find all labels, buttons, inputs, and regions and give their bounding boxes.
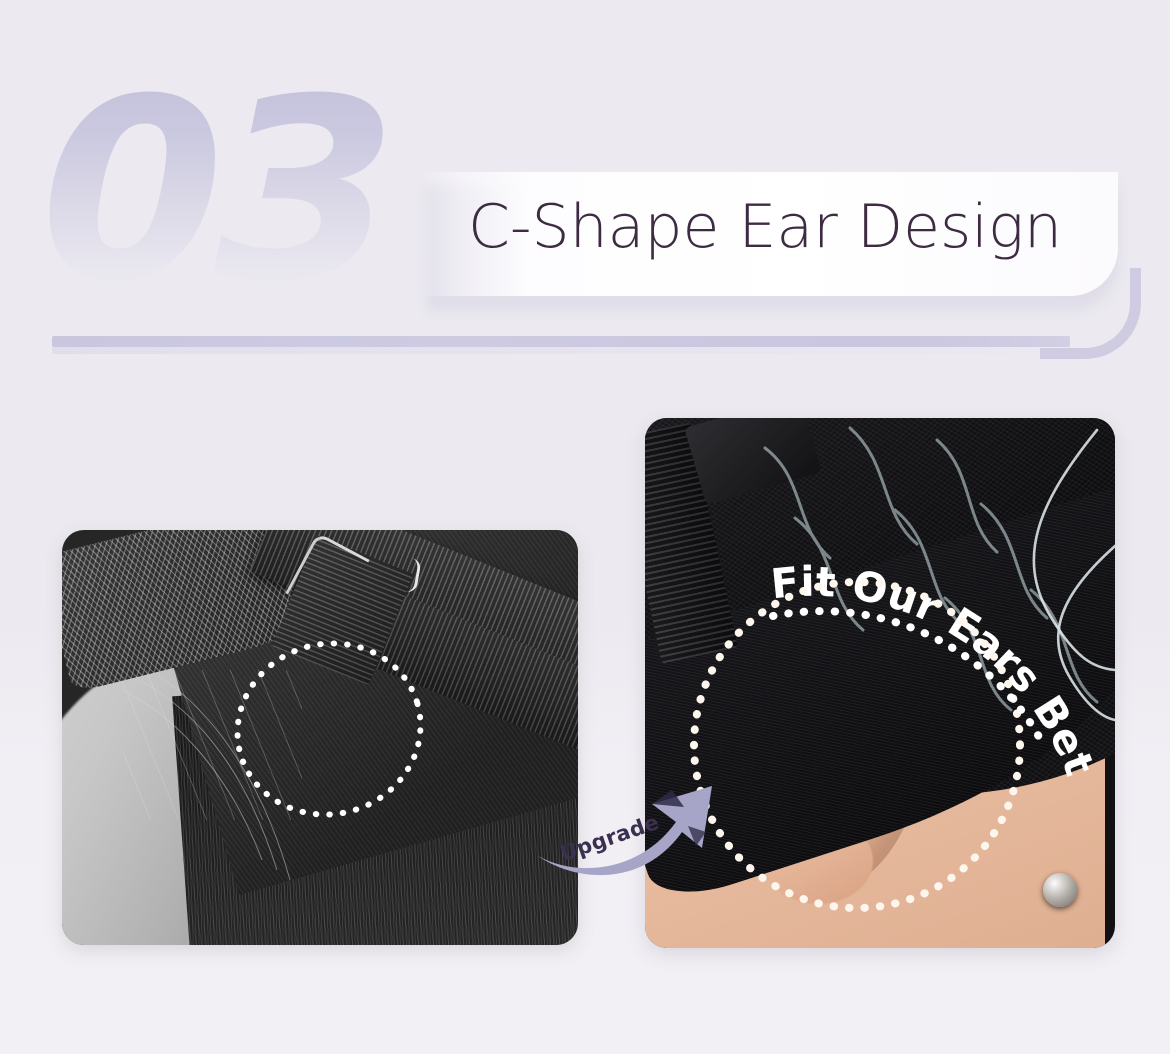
earring-stud — [1043, 873, 1077, 907]
before-photo — [62, 530, 578, 945]
section-header: 03 C-Shape Ear Design — [0, 0, 1170, 370]
page-background: 03 C-Shape Ear Design — [0, 0, 1170, 1054]
title-underline-curve — [1040, 268, 1141, 359]
page-title: C-Shape Ear Design — [468, 192, 1062, 262]
upgrade-indicator: Upgrade — [536, 760, 726, 890]
step-number: 03 — [40, 66, 388, 316]
title-underline-highlight — [52, 347, 1082, 354]
title-panel: C-Shape Ear Design — [420, 172, 1120, 300]
title-underline-bar — [52, 336, 1070, 347]
